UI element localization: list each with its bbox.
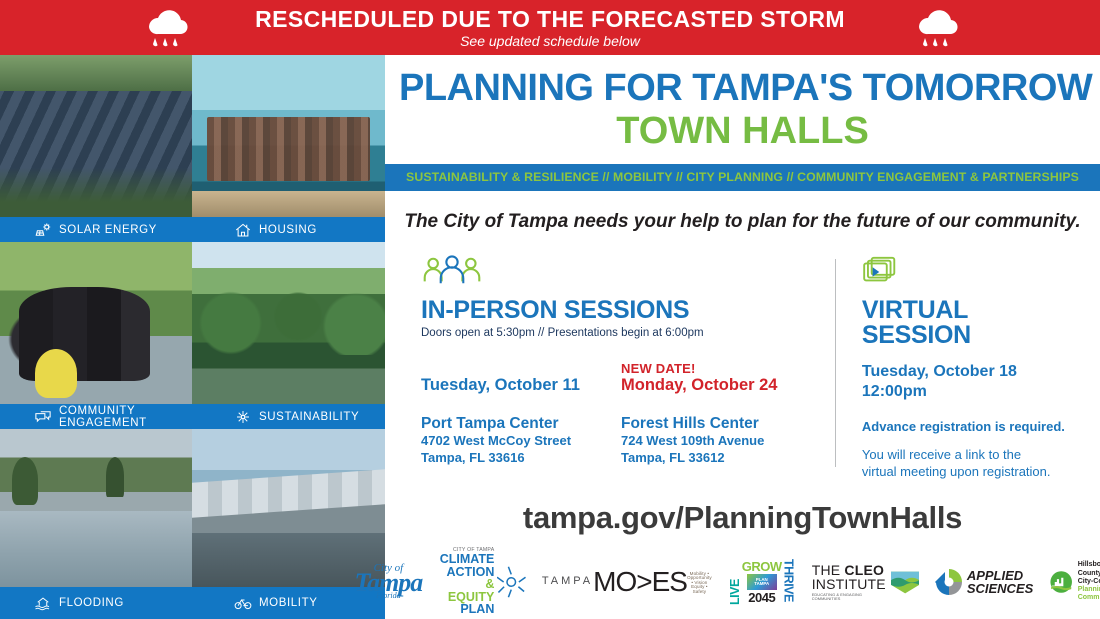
venue-name: Port Tampa Center (421, 415, 621, 433)
venue-address-line1: 4702 West McCoy Street (421, 433, 621, 450)
mosaic-label-text: FLOODING (59, 597, 124, 609)
arrow-circle-icon (935, 569, 963, 595)
logo-moves-top: TAMPA (542, 576, 593, 587)
photo-community-engagement (0, 242, 192, 404)
venue-date: Monday, October 24 (621, 376, 821, 395)
venue-card: NEW DATE! Monday, October 24 Forest Hill… (621, 361, 821, 467)
logo-moves-tagline: Mobility • Opportunity • Vision Equity •… (687, 572, 712, 595)
recycle-leaf-icon (234, 408, 252, 426)
logo-grow-live-thrive-2045: LIVE GROW PLAN TAMPA 2045 THRIVE (728, 559, 796, 605)
sessions-section: IN-PERSON SESSIONS Doors open at 5:30pm … (385, 255, 1100, 480)
mosaic-label-row-2: COMMUNITY ENGAGEMENT SUSTAINABILITY (0, 404, 385, 429)
venue-name: Forest Hills Center (621, 415, 821, 433)
flyer-root: RESCHEDULED DUE TO THE FORECASTED STORM … (0, 0, 1100, 619)
logo-grow-top: GROW (742, 559, 782, 574)
new-date-flag: NEW DATE! (621, 361, 821, 375)
venue-address-line1: 724 West 109th Avenue (621, 433, 821, 450)
bicycle-icon (234, 594, 252, 612)
venue-list: Tuesday, October 11 Port Tampa Center 47… (421, 361, 821, 467)
house-icon (234, 221, 252, 239)
in-person-note: Doors open at 5:30pm // Presentations be… (421, 327, 821, 339)
alert-subtitle: See updated schedule below (255, 34, 845, 49)
logo-cleo-line2: INSTITUTE (812, 577, 888, 591)
logo-tampa-moves: TAMPA MO>ES Mobility • Opportunity • Vis… (542, 568, 712, 596)
logo-hills-line1: Hillsborough County (1078, 561, 1100, 578)
logo-grow-right: THRIVE (782, 559, 796, 605)
photo-housing (192, 55, 385, 217)
mosaic-label-text: HOUSING (259, 224, 317, 236)
logo-climate-line4: PLAN (438, 603, 494, 616)
website-url[interactable]: tampa.gov/PlanningTownHalls (385, 500, 1100, 536)
logo-strip: City of Tampa Florida CITY OF TAMPA CLIM… (385, 548, 1100, 616)
virtual-requirement: Advance registration is required. (862, 419, 1082, 434)
mosaic-label-flooding: FLOODING (0, 594, 192, 612)
flooded-house-icon (34, 594, 52, 612)
virtual-note-line2: virtual meeting upon registration. (862, 464, 1051, 479)
people-group-icon (421, 255, 483, 287)
mosaic-label-text: MOBILITY (259, 597, 317, 609)
venue-date: Tuesday, October 11 (421, 376, 621, 395)
mosaic-label-community-engagement: COMMUNITY ENGAGEMENT (0, 405, 192, 429)
tagline: The City of Tampa needs your help to pla… (385, 211, 1100, 233)
rain-cloud-icon (135, 5, 195, 50)
mosaic-label-solar-energy: SOLAR ENERGY (0, 221, 192, 239)
virtual-note: You will receive a link to the virtual m… (862, 446, 1082, 480)
topics-bar: SUSTAINABILITY & RESILIENCE // MOBILITY … (385, 164, 1100, 191)
logo-hillsborough-planning-commission: Hillsborough County City-County Planning… (1049, 561, 1100, 602)
page-title: PLANNING FOR TAMPA'S TOMORROW (399, 69, 1086, 107)
photo-mosaic: SOLAR ENERGY HOUSING (0, 55, 385, 619)
sun-icon (497, 562, 526, 602)
venue-address-line2: Tampa, FL 33612 (621, 450, 821, 467)
logo-tampa-line2: Tampa (355, 573, 423, 593)
mosaic-label-row-3: FLOODING MOBILITY (0, 587, 385, 619)
new-date-flag (421, 361, 621, 375)
rain-cloud-icon (905, 5, 965, 50)
page-subtitle: TOWN HALLS (399, 112, 1086, 152)
landscape-icon (891, 569, 919, 595)
logo-cleo-institute: THE CLEO INSTITUTE EDUCATING & ENGAGING … (812, 563, 919, 601)
in-person-title: IN-PERSON SESSIONS (421, 298, 821, 323)
venue-card: Tuesday, October 11 Port Tampa Center 47… (421, 361, 621, 467)
venue-address-line2: Tampa, FL 33616 (421, 450, 621, 467)
logo-hills-line3: Planning Commission (1078, 586, 1100, 603)
photo-mobility (192, 429, 385, 587)
speech-bubbles-icon (34, 408, 52, 426)
logo-applied-line2: SCIENCES (967, 582, 1033, 595)
alert-text-block: RESCHEDULED DUE TO THE FORECASTED STORM … (255, 7, 845, 49)
video-frames-play-icon (862, 255, 904, 287)
logo-climate-action-equity-plan: CITY OF TAMPA CLIMATE ACTION & EQUITY PL… (438, 548, 526, 616)
mosaic-label-text: SUSTAINABILITY (259, 411, 359, 423)
photo-solar-energy (0, 55, 192, 217)
alert-title: RESCHEDULED DUE TO THE FORECASTED STORM (255, 7, 845, 31)
logo-city-of-tampa: City of Tampa Florida (355, 564, 423, 599)
logo-grow-left: LIVE (728, 559, 742, 605)
logo-applied-sciences: APPLIED SCIENCES (935, 569, 1033, 595)
virtual-date-time: Tuesday, October 18 12:00pm (862, 362, 1082, 403)
logo-hills-line2: City-County (1078, 578, 1100, 586)
photo-sustainability (192, 242, 385, 404)
mosaic-label-row-1: SOLAR ENERGY HOUSING (0, 217, 385, 242)
content-column: PLANNING FOR TAMPA'S TOMORROW TOWN HALLS… (385, 55, 1100, 619)
logo-cleo-line3: EDUCATING & ENGAGING COMMUNITIES (812, 593, 888, 601)
virtual-time: 12:00pm (862, 383, 927, 400)
mosaic-label-text: COMMUNITY ENGAGEMENT (59, 405, 192, 429)
headline-block: PLANNING FOR TAMPA'S TOMORROW TOWN HALLS (385, 55, 1100, 152)
virtual-title: VIRTUAL SESSION (862, 298, 1082, 348)
solar-panel-icon (34, 221, 52, 239)
logo-climate-line3: & EQUITY (438, 578, 494, 603)
section-divider (835, 259, 836, 467)
virtual-column: VIRTUAL SESSION Tuesday, October 18 12:0… (862, 255, 1082, 480)
mosaic-label-text: SOLAR ENERGY (59, 224, 157, 236)
in-person-column: IN-PERSON SESSIONS Doors open at 5:30pm … (421, 255, 821, 480)
photo-flooding (0, 429, 192, 587)
alert-banner: RESCHEDULED DUE TO THE FORECASTED STORM … (0, 0, 1100, 55)
virtual-note-line1: You will receive a link to the (862, 447, 1021, 462)
logo-grow-badge: PLAN TAMPA (747, 574, 777, 590)
virtual-date: Tuesday, October 18 (862, 363, 1017, 380)
logo-cleo-line1: THE CLEO (812, 563, 888, 577)
logo-grow-year: 2045 (748, 590, 775, 605)
topics-text: SUSTAINABILITY & RESILIENCE // MOBILITY … (406, 170, 1079, 184)
logo-moves-main: MO>ES (593, 568, 687, 596)
logo-grow-badge-line2: TAMPA (754, 582, 769, 586)
green-circle-skyline-icon (1049, 566, 1073, 598)
mosaic-label-housing: HOUSING (192, 221, 385, 239)
mosaic-label-sustainability: SUSTAINABILITY (192, 408, 385, 426)
logo-climate-line1: CLIMATE (438, 553, 494, 566)
